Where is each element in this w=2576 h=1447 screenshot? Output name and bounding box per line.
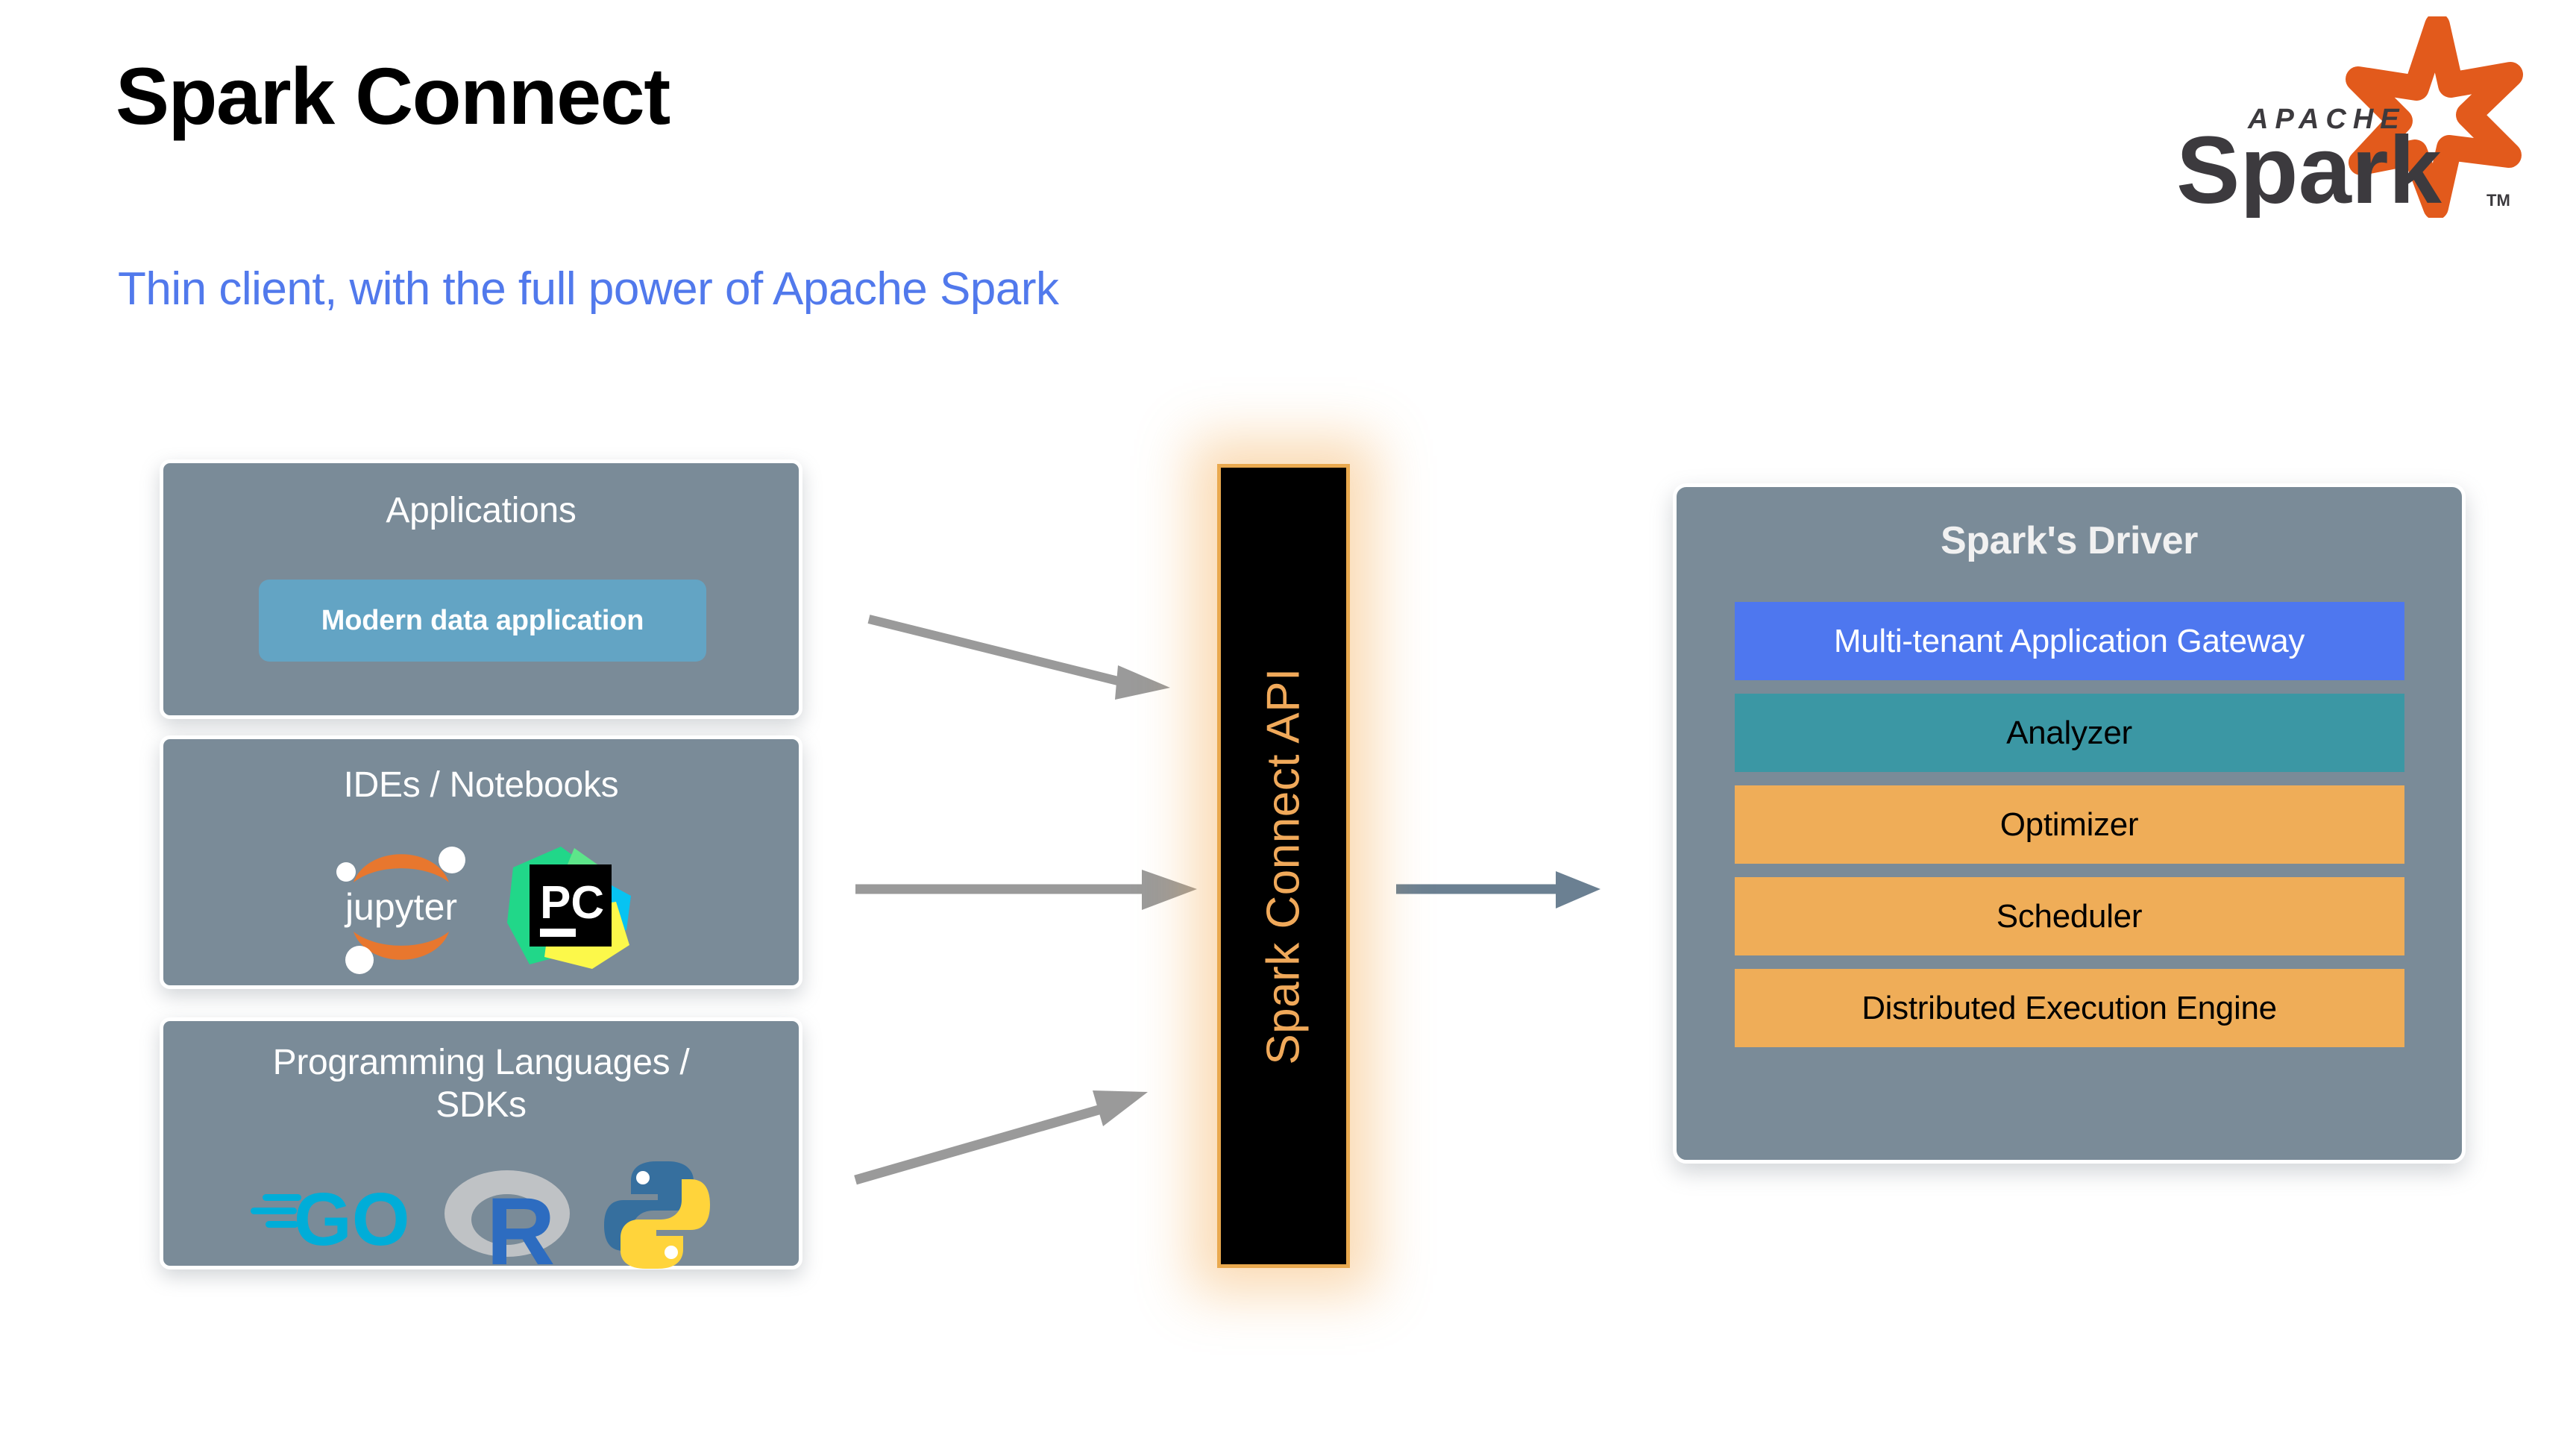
jupyter-logo: jupyter — [327, 836, 476, 982]
page-title: Spark Connect — [116, 54, 670, 138]
driver-row-optimizer[interactable]: Optimizer — [1735, 785, 2404, 864]
spark-wordmark: Spark — [2176, 117, 2443, 218]
trademark-mark: TM — [2487, 191, 2510, 210]
arrow-languages-to-api — [846, 1038, 1227, 1195]
card-title-line-2: SDKs — [163, 1085, 799, 1127]
go-wordmark: GO — [294, 1178, 410, 1260]
client-card-programming-languages[interactable]: Programming Languages / SDKs GO — [160, 1017, 802, 1269]
pycharm-wordmark: PC — [540, 877, 604, 929]
arrow-api-to-driver — [1389, 849, 1687, 929]
python-logo — [601, 1158, 713, 1275]
driver-row-scheduler[interactable]: Scheduler — [1735, 877, 2404, 955]
pycharm-logo: PC — [503, 841, 635, 977]
modern-data-application-chip[interactable]: Modern data application — [259, 580, 706, 662]
spark-connect-api-label: Spark Connect API — [1257, 668, 1310, 1064]
page-subtitle: Thin client, with the full power of Apac… — [118, 263, 1058, 316]
spark-connect-api-bar[interactable]: Spark Connect API — [1217, 464, 1350, 1268]
arrow-ides-to-api — [846, 844, 1227, 934]
language-logo-row: GO R — [163, 1155, 799, 1278]
r-wordmark: R — [486, 1178, 555, 1275]
driver-row-label: Analyzer — [2006, 715, 2132, 752]
client-card-applications[interactable]: Applications Modern data application — [160, 459, 802, 719]
card-title-applications: Applications — [163, 490, 799, 533]
card-title-programming-languages: Programming Languages / SDKs — [163, 1042, 799, 1126]
driver-row-multi-tenant-application-gateway[interactable]: Multi-tenant Application Gateway — [1735, 602, 2404, 680]
driver-row-analyzer[interactable]: Analyzer — [1735, 694, 2404, 772]
card-title-line-1: Programming Languages / — [163, 1042, 799, 1085]
card-title-ides-notebooks: IDEs / Notebooks — [163, 765, 799, 807]
spark-driver-panel[interactable]: Spark's Driver Multi-tenant Application … — [1673, 483, 2466, 1164]
go-logo: GO — [249, 1170, 413, 1264]
client-card-ides-notebooks[interactable]: IDEs / Notebooks jupyter — [160, 735, 802, 989]
driver-row-distributed-execution-engine[interactable]: Distributed Execution Engine — [1735, 969, 2404, 1047]
r-logo: R — [440, 1155, 574, 1278]
driver-row-label: Scheduler — [1997, 898, 2142, 935]
apache-spark-logo: APACHE Spark TM — [2137, 16, 2533, 218]
driver-row-label: Multi-tenant Application Gateway — [1834, 623, 2305, 660]
slide-canvas: Spark Connect Thin client, with the full… — [0, 0, 2576, 1447]
driver-row-label: Optimizer — [2000, 806, 2139, 844]
driver-row-label: Distributed Execution Engine — [1862, 990, 2277, 1027]
spark-driver-title: Spark's Driver — [1677, 518, 2462, 563]
ide-logo-row: jupyter PC — [163, 836, 799, 982]
driver-component-list: Multi-tenant Application Gateway Analyze… — [1735, 602, 2404, 1047]
arrow-applications-to-api — [861, 606, 1219, 725]
jupyter-wordmark: jupyter — [344, 886, 457, 928]
